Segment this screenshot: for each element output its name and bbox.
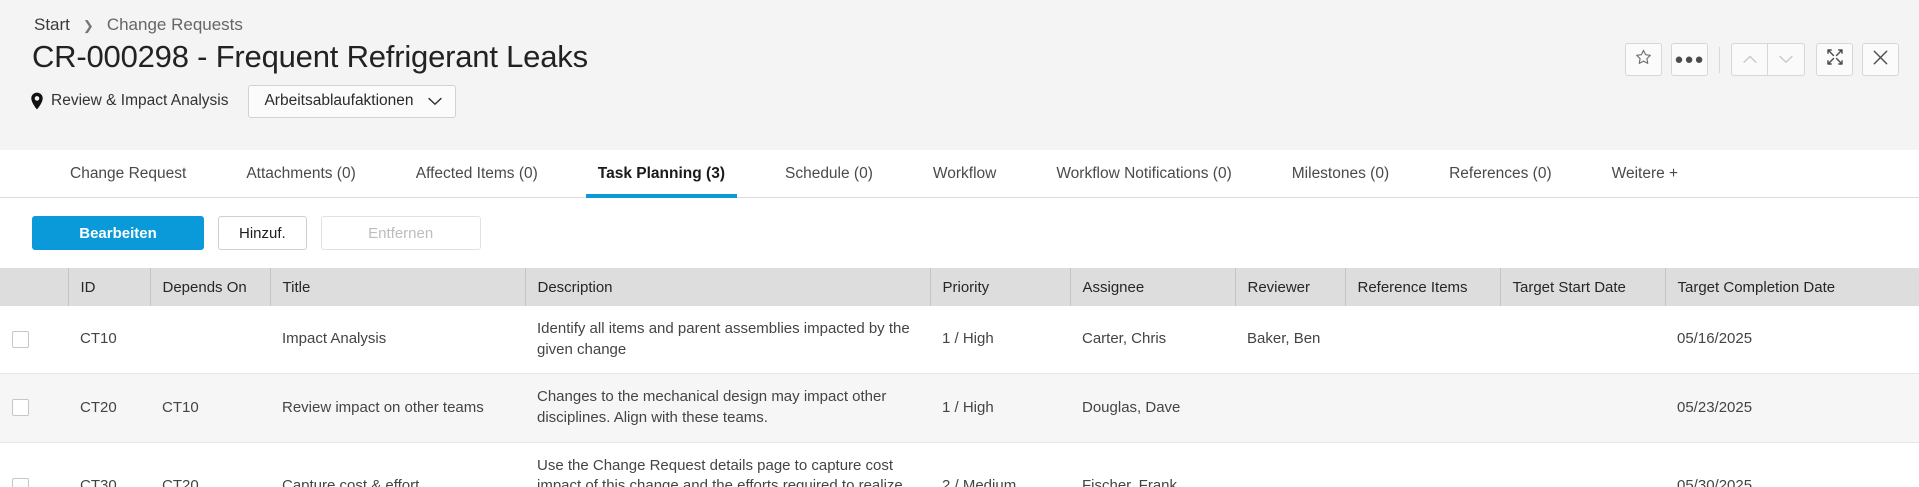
breadcrumb: Start ❯ Change Requests [0, 0, 1919, 36]
collapse-button[interactable] [1816, 43, 1853, 76]
chevron-down-icon [1779, 51, 1793, 69]
previous-record-button[interactable] [1731, 43, 1768, 76]
tab-workflow-notifications[interactable]: Workflow Notifications (0) [1026, 150, 1261, 197]
cell-assignee: Fischer, Frank [1070, 442, 1235, 487]
cell-priority: 2 / Medium [930, 442, 1070, 487]
breadcrumb-item-start[interactable]: Start [34, 15, 70, 35]
column-header-depends-on[interactable]: Depends On [150, 268, 270, 306]
tab-bar: Change Request Attachments (0) Affected … [0, 150, 1919, 198]
tab-references[interactable]: References (0) [1419, 150, 1582, 197]
cell-reference-items [1345, 442, 1500, 487]
cell-description: Identify all items and parent assemblies… [525, 306, 930, 374]
row-select-cell [0, 442, 68, 487]
workflow-actions-dropdown[interactable]: Arbeitsablaufaktionen [248, 85, 455, 118]
cell-id: CT30 [68, 442, 150, 487]
cell-description: Use the Change Request details page to c… [525, 442, 930, 487]
table-header: ID Depends On Title Description Priority… [0, 268, 1919, 306]
next-record-button[interactable] [1768, 43, 1805, 76]
row-checkbox[interactable] [12, 399, 29, 416]
column-header-id[interactable]: ID [68, 268, 150, 306]
more-options-button[interactable]: ●●● [1671, 43, 1708, 76]
cell-reviewer [1235, 442, 1345, 487]
action-toolbar: Bearbeiten Hinzuf. Entfernen [0, 198, 1919, 268]
add-button[interactable]: Hinzuf. [218, 216, 307, 250]
column-header-reviewer[interactable]: Reviewer [1235, 268, 1345, 306]
favorite-button[interactable] [1625, 43, 1662, 76]
toolbar-divider [1719, 47, 1720, 73]
tab-label: Milestones (0) [1292, 165, 1389, 183]
tab-milestones[interactable]: Milestones (0) [1262, 150, 1419, 197]
subtitle-row: Review & Impact Analysis Arbeitsablaufak… [0, 77, 1919, 118]
tab-label: Attachments (0) [246, 165, 355, 183]
ellipsis-icon: ●●● [1674, 52, 1704, 67]
cell-target-start-date [1500, 306, 1665, 374]
cell-depends-on: CT20 [150, 442, 270, 487]
column-header-assignee[interactable]: Assignee [1070, 268, 1235, 306]
column-header-target-completion-date[interactable]: Target Completion Date [1665, 268, 1919, 306]
collapse-icon [1827, 49, 1843, 70]
tab-workflow[interactable]: Workflow [903, 150, 1026, 197]
tab-attachments[interactable]: Attachments (0) [216, 150, 385, 197]
cell-target-start-date [1500, 374, 1665, 442]
cell-id: CT20 [68, 374, 150, 442]
cell-assignee: Carter, Chris [1070, 306, 1235, 374]
table-header-row: ID Depends On Title Description Priority… [0, 268, 1919, 306]
column-header-description[interactable]: Description [525, 268, 930, 306]
table-row[interactable]: CT10 Impact Analysis Identify all items … [0, 306, 1919, 374]
tab-label: Change Request [70, 165, 186, 183]
tab-label: References (0) [1449, 165, 1552, 183]
cell-target-completion-date: 05/16/2025 [1665, 306, 1919, 374]
column-header-priority[interactable]: Priority [930, 268, 1070, 306]
cell-target-completion-date: 05/23/2025 [1665, 374, 1919, 442]
cell-description: Changes to the mechanical design may imp… [525, 374, 930, 442]
cell-target-completion-date: 05/30/2025 [1665, 442, 1919, 487]
edit-button[interactable]: Bearbeiten [32, 216, 204, 250]
tab-schedule[interactable]: Schedule (0) [755, 150, 903, 197]
chevron-down-icon [428, 97, 442, 106]
tab-more[interactable]: Weitere + [1582, 150, 1708, 197]
cell-reviewer [1235, 374, 1345, 442]
breadcrumb-item-change-requests[interactable]: Change Requests [107, 15, 243, 35]
cell-priority: 1 / High [930, 306, 1070, 374]
column-header-target-start-date[interactable]: Target Start Date [1500, 268, 1665, 306]
remove-button: Entfernen [321, 216, 481, 250]
table-body: CT10 Impact Analysis Identify all items … [0, 306, 1919, 487]
cell-depends-on: CT10 [150, 374, 270, 442]
cell-reference-items [1345, 306, 1500, 374]
column-header-reference-items[interactable]: Reference Items [1345, 268, 1500, 306]
tab-task-planning[interactable]: Task Planning (3) [568, 150, 755, 197]
cell-id: CT10 [68, 306, 150, 374]
cell-priority: 1 / High [930, 374, 1070, 442]
cell-title: Capture cost & effort [270, 442, 525, 487]
page-header: Start ❯ Change Requests CR-000298 - Freq… [0, 0, 1919, 150]
star-icon [1635, 49, 1652, 71]
row-checkbox[interactable] [12, 478, 29, 487]
cell-reference-items [1345, 374, 1500, 442]
chevron-up-icon [1743, 51, 1757, 69]
page-title: CR-000298 - Frequent Refrigerant Leaks [32, 38, 588, 77]
task-planning-table: ID Depends On Title Description Priority… [0, 268, 1919, 487]
column-header-title[interactable]: Title [270, 268, 525, 306]
close-icon [1873, 50, 1888, 70]
row-select-cell [0, 306, 68, 374]
cell-assignee: Douglas, Dave [1070, 374, 1235, 442]
close-button[interactable] [1862, 43, 1899, 76]
tab-label: Workflow Notifications (0) [1056, 165, 1231, 183]
tab-label: Task Planning (3) [598, 165, 725, 183]
tab-label: Affected Items (0) [416, 165, 538, 183]
breadcrumb-separator-icon: ❯ [83, 19, 94, 32]
tab-label: Schedule (0) [785, 165, 873, 183]
table-row[interactable]: CT20 CT10 Review impact on other teams C… [0, 374, 1919, 442]
window-actions: ●●● [1625, 43, 1899, 76]
tab-affected-items[interactable]: Affected Items (0) [386, 150, 568, 197]
row-select-cell [0, 374, 68, 442]
workflow-actions-dropdown-label: Arbeitsablaufaktionen [264, 92, 413, 110]
tab-label: Weitere + [1612, 165, 1678, 183]
table-row[interactable]: CT30 CT20 Capture cost & effort Use the … [0, 442, 1919, 487]
row-checkbox[interactable] [12, 331, 29, 348]
location-pin-icon [30, 92, 44, 110]
cell-reviewer: Baker, Ben [1235, 306, 1345, 374]
tab-label: Workflow [933, 165, 996, 183]
cell-depends-on [150, 306, 270, 374]
cell-title: Impact Analysis [270, 306, 525, 374]
cell-title: Review impact on other teams [270, 374, 525, 442]
column-header-select[interactable] [0, 268, 68, 306]
cell-target-start-date [1500, 442, 1665, 487]
workflow-state-label: Review & Impact Analysis [51, 92, 228, 110]
tab-change-request[interactable]: Change Request [40, 150, 216, 197]
